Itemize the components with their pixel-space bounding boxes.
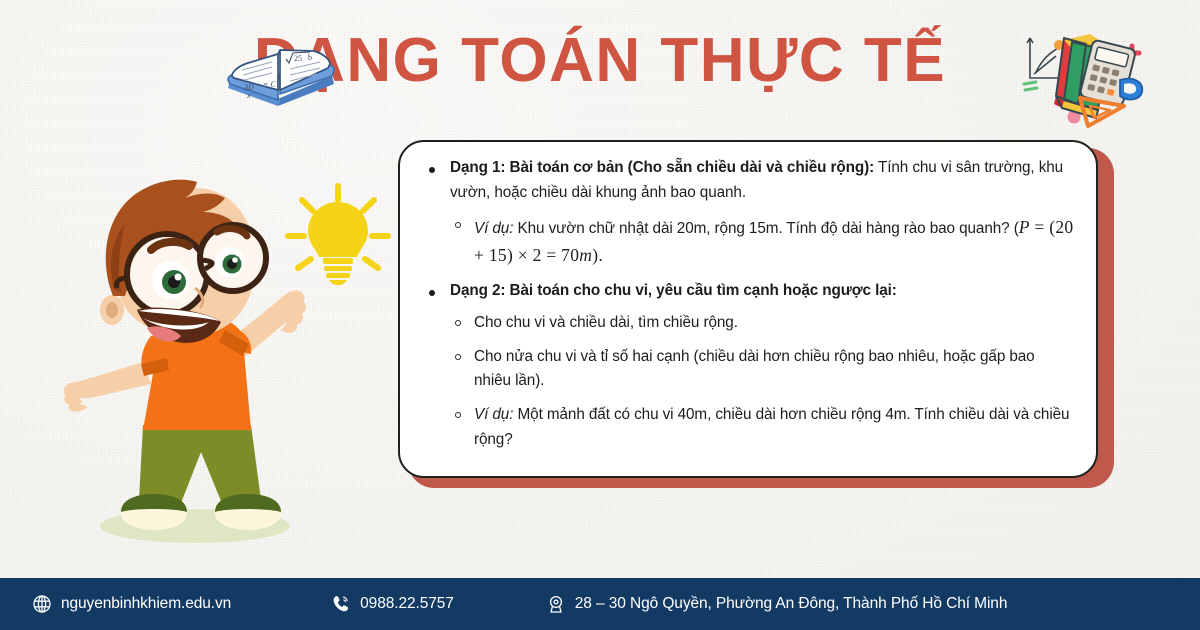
- list-item-dang-1-vidu: Ví dụ: Khu vườn chữ nhật dài 20m, rộng 1…: [450, 213, 1074, 271]
- list-item-dang-2: Dạng 2: Bài toán cho chu vi, yêu cầu tìm…: [422, 279, 1074, 453]
- content-card-wrapper: Dạng 1: Bài toán cơ bản (Cho sẵn chiều d…: [398, 140, 1114, 488]
- footer-phone[interactable]: 0988.22.5757: [331, 594, 454, 614]
- dang-2-sub-2-text: Cho nửa chu vi và tỉ số hai cạnh (chiều …: [474, 345, 1074, 395]
- footer-website-label: nguyenbinhkhiem.edu.vn: [61, 595, 231, 613]
- footer-website[interactable]: nguyenbinhkhiem.edu.vn: [32, 594, 231, 614]
- vidu-text: Khu vườn chữ nhật dài 20m, rộng 15m. Tín…: [513, 220, 1018, 237]
- formula-var-m: m: [579, 245, 592, 265]
- svg-text:b: b: [308, 53, 312, 62]
- formula-close: ).: [592, 245, 603, 265]
- vidu-label: Ví dụ:: [474, 406, 513, 423]
- bullet-disc-icon: [429, 167, 435, 173]
- vidu-label: Ví dụ:: [474, 220, 513, 237]
- dang-2-sublist: Cho chu vi và chiều dài, tìm chiều rộng.…: [450, 311, 1074, 453]
- dang-1-paragraph: Dạng 1: Bài toán cơ bản (Cho sẵn chiều d…: [450, 156, 1074, 206]
- svg-text:= C: = C: [263, 80, 276, 89]
- footer-address-label: 28 – 30 Ngô Quyền, Phường An Đông, Thành…: [575, 595, 1008, 613]
- footer-bar: nguyenbinhkhiem.edu.vn 0988.22.5757: [0, 578, 1200, 630]
- bullet-disc-icon: [429, 290, 435, 296]
- poster-canvas: DẠNG TOÁN THỰC TẾ 3D= Cx 25b: [0, 0, 1200, 630]
- footer-address[interactable]: 28 – 30 Ngô Quyền, Phường An Đông, Thành…: [546, 594, 1008, 614]
- list-item-dang-2-sub-1: Cho chu vi và chiều dài, tìm chiều rộng.: [450, 311, 1074, 336]
- dang-2-vidu-paragraph: Ví dụ: Một mảnh đất có chu vi 40m, chiều…: [474, 403, 1074, 453]
- formula-var-p: P: [1019, 217, 1030, 237]
- dang-2-sub-1-text: Cho chu vi và chiều dài, tìm chiều rộng.: [474, 311, 1074, 336]
- boy-pointing-character: [55, 170, 355, 550]
- map-pin-icon: [546, 594, 566, 614]
- svg-text:x: x: [246, 91, 251, 100]
- bullet-circle-icon: [455, 354, 461, 360]
- footer-phone-label: 0988.22.5757: [360, 595, 454, 613]
- dang-2-paragraph: Dạng 2: Bài toán cho chu vi, yêu cầu tìm…: [450, 279, 1074, 304]
- phone-ringing-icon: [331, 594, 351, 614]
- dang-1-sublist: Ví dụ: Khu vườn chữ nhật dài 20m, rộng 1…: [450, 213, 1074, 271]
- list-item-dang-2-vidu: Ví dụ: Một mảnh đất có chu vi 40m, chiều…: [450, 403, 1074, 453]
- dang-2-heading: Dạng 2: Bài toán cho chu vi, yêu cầu tìm…: [450, 282, 897, 299]
- svg-text:25: 25: [294, 54, 302, 63]
- list-item-dang-2-sub-2: Cho nửa chu vi và tỉ số hai cạnh (chiều …: [450, 345, 1074, 395]
- dang-1-heading: Dạng 1: Bài toán cơ bản (Cho sẵn chiều d…: [450, 159, 874, 176]
- school-supplies-icon: [1012, 22, 1150, 130]
- open-book-icon: 3D= Cx 25b: [222, 32, 342, 118]
- content-card: Dạng 1: Bài toán cơ bản (Cho sẵn chiều d…: [398, 140, 1098, 478]
- bullet-circle-icon: [455, 412, 461, 418]
- vidu-text: Một mảnh đất có chu vi 40m, chiều dài hơ…: [474, 406, 1069, 448]
- dang-1-vidu-paragraph: Ví dụ: Khu vườn chữ nhật dài 20m, rộng 1…: [474, 213, 1074, 271]
- list-item-dang-1: Dạng 1: Bài toán cơ bản (Cho sẵn chiều d…: [422, 156, 1074, 270]
- bullet-circle-icon: [455, 320, 461, 326]
- problem-type-list: Dạng 1: Bài toán cơ bản (Cho sẵn chiều d…: [422, 156, 1074, 453]
- globe-icon: [32, 594, 52, 614]
- bullet-circle-icon: [455, 222, 461, 228]
